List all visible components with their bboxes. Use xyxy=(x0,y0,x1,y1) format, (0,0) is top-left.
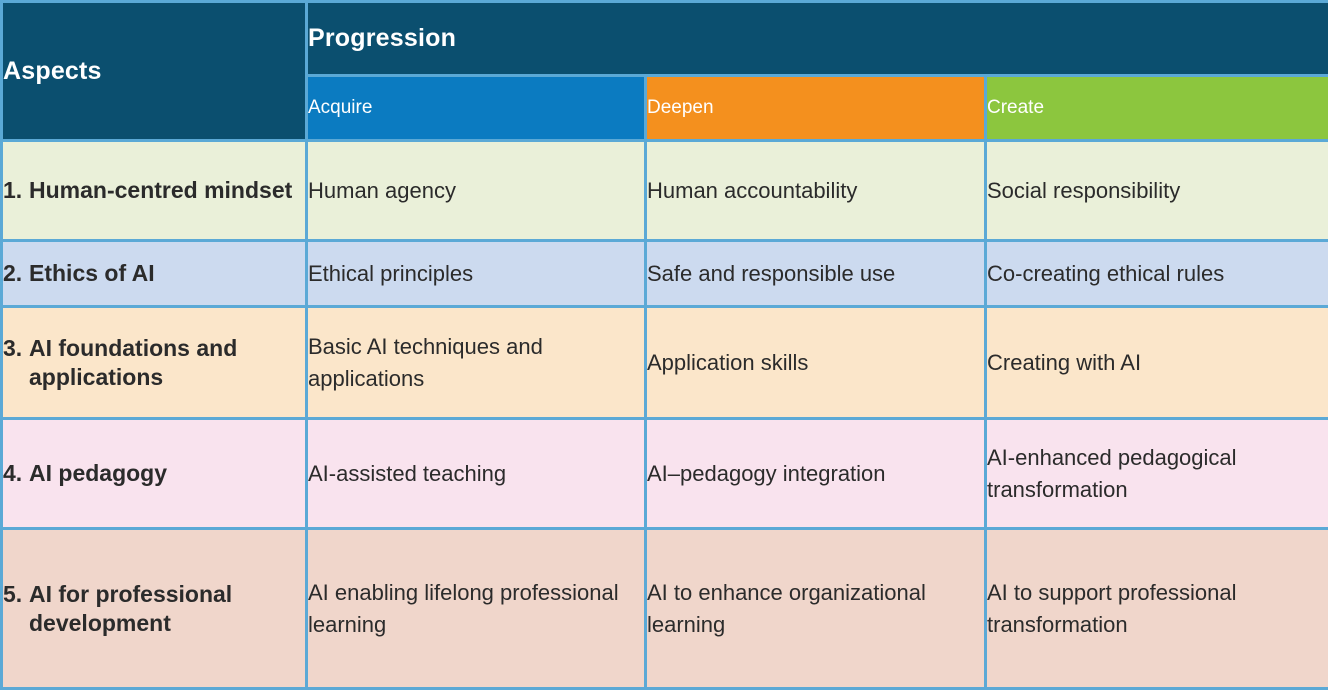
table-row: 1.Human-centred mindset Human agency Hum… xyxy=(2,141,1328,241)
header-level-acquire: Acquire xyxy=(307,76,646,141)
aspect-text-1: Human-centred mindset xyxy=(29,176,301,204)
aspect-number-3: 3. xyxy=(3,334,29,362)
aspect-number-2: 2. xyxy=(3,259,29,287)
cell-2-create: Co-creating ethical rules xyxy=(986,241,1328,307)
cell-2-deepen: Safe and responsible use xyxy=(646,241,986,307)
cell-3-deepen: Application skills xyxy=(646,307,986,419)
aspect-number-5: 5. xyxy=(3,580,29,608)
cell-1-create: Social responsibility xyxy=(986,141,1328,241)
aspect-label-2: 2.Ethics of AI xyxy=(2,241,307,307)
ai-competency-progression-table: Aspects Progression Acquire Deepen Creat… xyxy=(0,0,1328,686)
cell-3-create: Creating with AI xyxy=(986,307,1328,419)
cell-3-acquire: Basic AI techniques and applications xyxy=(307,307,646,419)
aspect-text-4: AI pedagogy xyxy=(29,459,301,487)
cell-5-acquire: AI enabling lifelong professional learni… xyxy=(307,529,646,689)
aspect-text-5: AI for professional development xyxy=(29,580,301,636)
aspect-label-1: 1.Human-centred mindset xyxy=(2,141,307,241)
cell-2-acquire: Ethical principles xyxy=(307,241,646,307)
table-row: 4.AI pedagogy AI-assisted teaching AI–pe… xyxy=(2,419,1328,529)
aspect-label-5: 5.AI for professional development xyxy=(2,529,307,689)
header-progression: Progression xyxy=(307,2,1328,76)
cell-4-create: AI-enhanced pedagogical transformation xyxy=(986,419,1328,529)
cell-1-deepen: Human accountability xyxy=(646,141,986,241)
table-row: 5.AI for professional development AI ena… xyxy=(2,529,1328,689)
table-row: 3.AI foundations and applications Basic … xyxy=(2,307,1328,419)
cell-4-deepen: AI–pedagogy integration xyxy=(646,419,986,529)
cell-5-deepen: AI to enhance organizational learning xyxy=(646,529,986,689)
header-level-create: Create xyxy=(986,76,1328,141)
aspect-text-3: AI foundations and applications xyxy=(29,334,301,390)
aspect-label-4: 4.AI pedagogy xyxy=(2,419,307,529)
cell-1-acquire: Human agency xyxy=(307,141,646,241)
header-aspects: Aspects xyxy=(2,2,307,141)
cell-4-acquire: AI-assisted teaching xyxy=(307,419,646,529)
aspect-number-1: 1. xyxy=(3,176,29,204)
header-row-group: Aspects Progression xyxy=(2,2,1328,76)
aspect-label-3: 3.AI foundations and applications xyxy=(2,307,307,419)
table-row: 2.Ethics of AI Ethical principles Safe a… xyxy=(2,241,1328,307)
cell-5-create: AI to support professional transformatio… xyxy=(986,529,1328,689)
aspect-number-4: 4. xyxy=(3,459,29,487)
aspect-text-2: Ethics of AI xyxy=(29,259,301,287)
matrix-table: Aspects Progression Acquire Deepen Creat… xyxy=(0,0,1328,690)
header-level-deepen: Deepen xyxy=(646,76,986,141)
